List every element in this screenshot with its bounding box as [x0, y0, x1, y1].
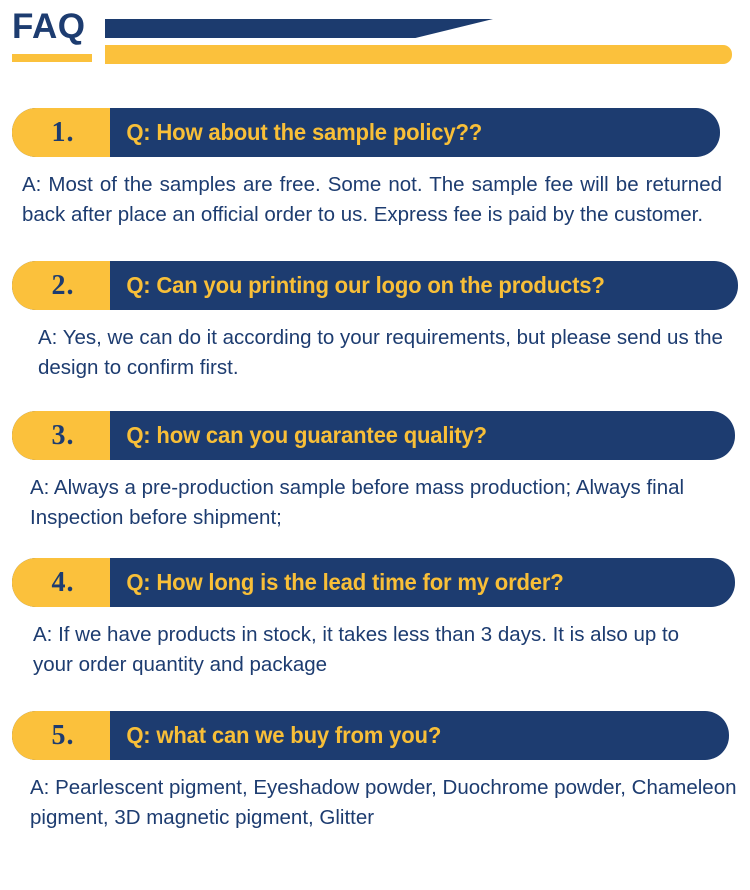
faq-item-number: 4.	[12, 558, 110, 607]
faq-question-bar[interactable]: 4. Q: How long is the lead time for my o…	[12, 558, 735, 607]
faq-item-number: 3.	[12, 411, 110, 460]
faq-question-text: Q: how can you guarantee quality?	[110, 411, 710, 460]
faq-header: FAQ	[0, 0, 750, 82]
header-decor-bar-yellow	[105, 45, 732, 64]
faq-answer-text: A: Yes, we can do it according to your r…	[38, 310, 728, 383]
faq-item: 4. Q: How long is the lead time for my o…	[0, 558, 750, 680]
faq-answer-text: A: Most of the samples are free. Some no…	[22, 157, 722, 230]
faq-question-bar[interactable]: 2. Q: Can you printing our logo on the p…	[12, 261, 738, 310]
faq-question-text: Q: How about the sample policy??	[110, 108, 696, 157]
page-title: FAQ	[12, 9, 85, 44]
faq-answer-text: A: Always a pre-production sample before…	[30, 460, 730, 533]
faq-item: 3. Q: how can you guarantee quality? A: …	[0, 411, 750, 533]
faq-item-number: 1.	[12, 108, 110, 157]
header-decor-bar-blue	[105, 19, 493, 38]
faq-list: 1. Q: How about the sample policy?? A: M…	[0, 108, 750, 833]
faq-item: 2. Q: Can you printing our logo on the p…	[0, 261, 750, 383]
faq-answer-text: A: Pearlescent pigment, Eyeshadow powder…	[30, 760, 745, 833]
title-underline-accent	[12, 54, 92, 62]
faq-item: 5. Q: what can we buy from you? A: Pearl…	[0, 711, 750, 833]
faq-item: 1. Q: How about the sample policy?? A: M…	[0, 108, 750, 230]
faq-item-number: 5.	[12, 711, 110, 760]
faq-question-bar[interactable]: 3. Q: how can you guarantee quality?	[12, 411, 735, 460]
faq-question-bar[interactable]: 5. Q: what can we buy from you?	[12, 711, 729, 760]
faq-answer-text: A: If we have products in stock, it take…	[33, 607, 723, 680]
faq-question-bar[interactable]: 1. Q: How about the sample policy??	[12, 108, 720, 157]
faq-item-number: 2.	[12, 261, 110, 310]
faq-question-text: Q: what can we buy from you?	[110, 711, 704, 760]
faq-question-text: Q: How long is the lead time for my orde…	[110, 558, 710, 607]
faq-question-text: Q: Can you printing our logo on the prod…	[110, 261, 713, 310]
